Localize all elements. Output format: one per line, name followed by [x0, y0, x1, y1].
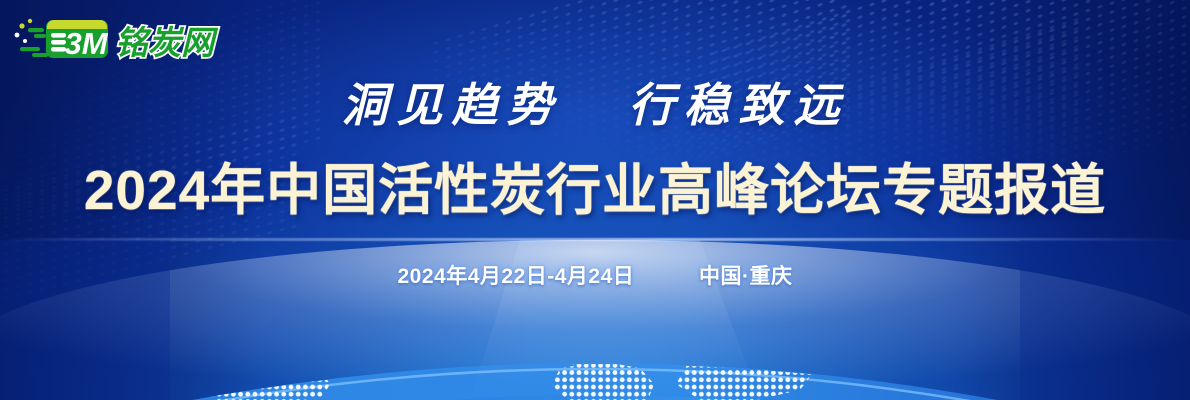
- site-logo[interactable]: .lg-green { fill: #18a02d; } .lg-lime { …: [8, 8, 223, 66]
- event-dates: 2024年4月22日-4月24日: [398, 265, 635, 288]
- logo-brand-text: 铭炭网: [115, 24, 219, 61]
- tagline-phrase-1: 洞见趋势: [342, 80, 562, 131]
- speed-lines-icon: [15, 19, 48, 57]
- event-location: 中国·重庆: [699, 265, 793, 288]
- tagline-calligraphy: 洞见趋势 行稳致远: [0, 78, 1190, 134]
- logo-svg: .lg-green { fill: #18a02d; } .lg-lime { …: [8, 8, 223, 66]
- tagline-phrase-2: 行稳致远: [629, 80, 849, 131]
- logo-badge-icon: 3M: [46, 20, 109, 61]
- page-title: 2024年中国活性炭行业高峰论坛专题报道: [0, 156, 1190, 224]
- svg-text:3M: 3M: [64, 26, 108, 61]
- event-meta: 2024年4月22日-4月24日 中国·重庆: [0, 260, 1190, 290]
- event-banner: .lg-green { fill: #18a02d; } .lg-lime { …: [0, 0, 1190, 400]
